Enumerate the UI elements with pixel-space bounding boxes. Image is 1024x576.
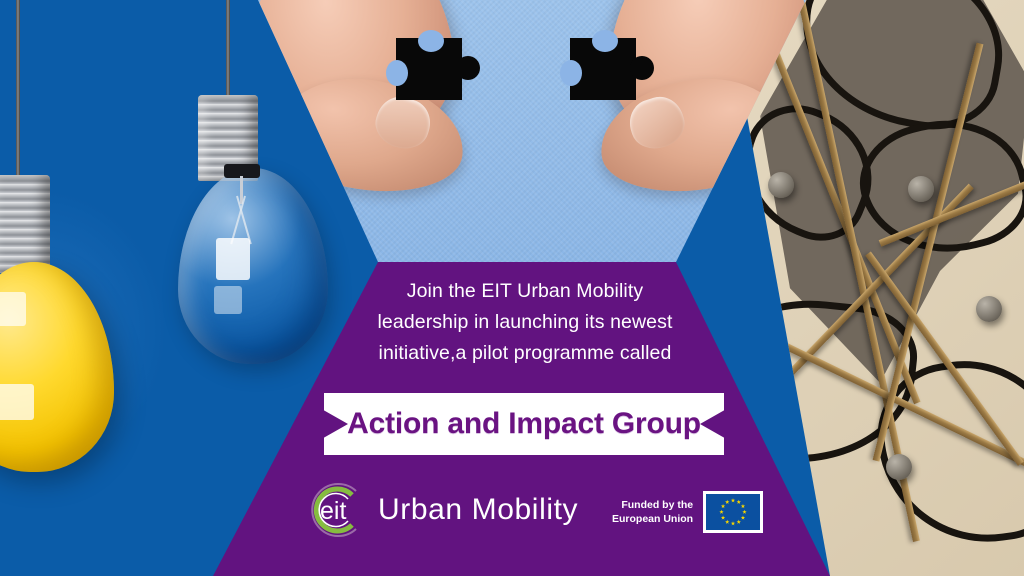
bulb-highlight (0, 384, 34, 420)
promotional-poster: Join the EIT Urban Mobility leadership i… (0, 0, 1024, 576)
body-copy-line-1: Join the EIT Urban Mobility (346, 276, 704, 307)
headline-banner: Action and Impact Group (324, 393, 724, 455)
map-pin (768, 172, 794, 198)
eit-wordmark: Urban Mobility (378, 493, 578, 527)
eit-logo-mark-icon: eit (300, 480, 364, 540)
headline-title: Action and Impact Group (347, 407, 701, 441)
bulb-cord-clear (226, 0, 230, 98)
body-copy: Join the EIT Urban Mobility leadership i… (346, 276, 704, 369)
glass-highlight (214, 286, 242, 314)
glass-highlight (216, 238, 250, 280)
map-pin (908, 176, 934, 202)
body-copy-line-3: initiative,a pilot programme called (346, 338, 704, 369)
map-pin (976, 296, 1002, 322)
body-copy-line-2: leadership in launching its newest (346, 307, 704, 338)
eit-urban-mobility-logo: eit Urban Mobility (300, 480, 578, 540)
svg-text:eit: eit (320, 497, 346, 525)
map-pin (886, 454, 912, 480)
european-union-flag-icon (703, 491, 763, 533)
clear-lightbulb-icon (178, 168, 328, 364)
eu-funding-text: Funded by the European Union (612, 498, 693, 526)
eu-funding-badge: Funded by the European Union (612, 491, 763, 533)
bulb-cord-yellow (16, 0, 20, 178)
eu-funding-line-1: Funded by the (612, 498, 693, 512)
bulb-socket-yellow (0, 175, 50, 273)
bulb-highlight (0, 292, 26, 326)
eu-funding-line-2: European Union (612, 512, 693, 526)
